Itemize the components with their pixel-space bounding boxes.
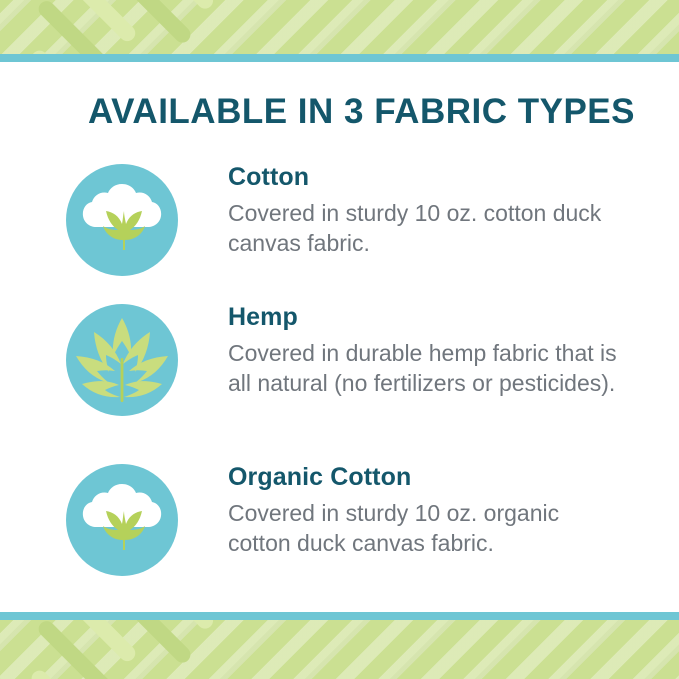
top-decorative-band (0, 0, 679, 54)
feature-heading: Organic Cotton (228, 464, 628, 490)
feature-body: Covered in sturdy 10 oz. cotton duck can… (228, 199, 628, 258)
bottom-teal-rule (0, 612, 679, 620)
bottom-decorative-band (0, 620, 679, 679)
feature-body: Covered in sturdy 10 oz. organic cotton … (228, 499, 628, 558)
infographic-canvas: AVAILABLE IN 3 FABRIC TYPES Cotton Cover… (0, 0, 679, 679)
feature-heading: Cotton (228, 164, 628, 190)
hemp-leaf-icon (64, 302, 180, 418)
feature-heading: Hemp (228, 304, 628, 330)
page-title: AVAILABLE IN 3 FABRIC TYPES (88, 92, 635, 132)
top-teal-rule (0, 54, 679, 62)
feature-body: Covered in durable hemp fabric that is a… (228, 339, 628, 398)
feature-text-organic-cotton: Organic Cotton Covered in sturdy 10 oz. … (228, 464, 628, 558)
cotton-boll-icon (64, 462, 180, 578)
feature-text-cotton: Cotton Covered in sturdy 10 oz. cotton d… (228, 164, 628, 258)
feature-text-hemp: Hemp Covered in durable hemp fabric that… (228, 304, 628, 398)
cotton-boll-icon (64, 162, 180, 278)
